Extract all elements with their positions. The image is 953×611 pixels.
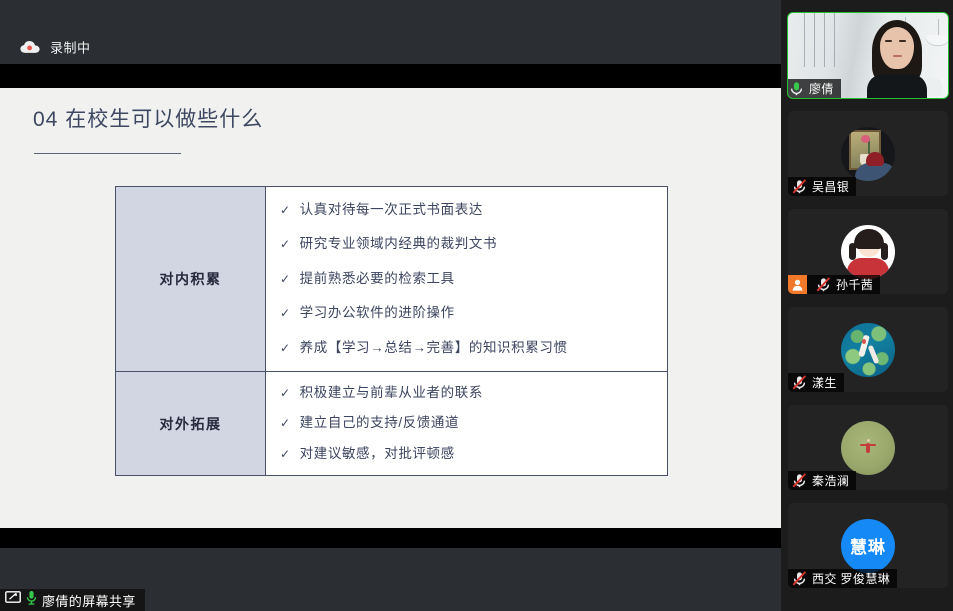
- avatar: [841, 421, 895, 475]
- check-icon: ✓: [280, 416, 291, 430]
- list-item-text: 对建议敏感，对批评顿感: [300, 446, 455, 462]
- microphone-muted-icon: [791, 374, 808, 391]
- recording-label: 录制中: [50, 38, 91, 57]
- content-table: 对内积累 ✓ 认真对待每一次正式书面表达 ✓ 研究专业领域内经典的裁判文书 ✓ …: [115, 186, 668, 476]
- participant-name: 西交 罗俊慧琳: [812, 570, 890, 587]
- shared-screen-stage[interactable]: 录制中 04 在校生可以做些什么 对内积累 ✓ 认真对待每一次正式书面表达 ✓ …: [0, 0, 781, 611]
- slide-title: 04 在校生可以做些什么: [33, 103, 263, 133]
- meeting-window: 录制中 04 在校生可以做些什么 对内积累 ✓ 认真对待每一次正式书面表达 ✓ …: [0, 0, 953, 611]
- slide-title-underline: [34, 153, 181, 154]
- table-row: 对外拓展 ✓ 积极建立与前辈从业者的联系 ✓ 建立自己的支持/反馈通道 ✓ 对建…: [116, 372, 667, 475]
- list-item: ✓ 认真对待每一次正式书面表达: [280, 202, 667, 218]
- list-item-text: 认真对待每一次正式书面表达: [300, 202, 483, 218]
- participant-name: 秦浩澜: [812, 472, 849, 489]
- list-item-text: 学习办公软件的进阶操作: [300, 305, 455, 321]
- list-item: ✓ 研究专业领域内经典的裁判文书: [280, 236, 667, 252]
- list-item-text: 建立自己的支持/反馈通道: [300, 415, 459, 431]
- check-icon: ✓: [280, 306, 291, 320]
- list-item: ✓ 学习办公软件的进阶操作: [280, 305, 667, 321]
- avatar: 慧琳: [841, 519, 895, 573]
- participant-nameplate: 西交 罗俊慧琳: [788, 569, 897, 588]
- table-row-items: ✓ 积极建立与前辈从业者的联系 ✓ 建立自己的支持/反馈通道 ✓ 对建议敏感，对…: [266, 372, 667, 475]
- table-row: 对内积累 ✓ 认真对待每一次正式书面表达 ✓ 研究专业领域内经典的裁判文书 ✓ …: [116, 187, 667, 372]
- list-item-text: 积极建立与前辈从业者的联系: [300, 385, 483, 401]
- participant-face: [865, 18, 929, 98]
- letterbox-top: [0, 64, 781, 88]
- table-row-category: 对外拓展: [116, 372, 266, 475]
- participant-name: 孙千茜: [836, 276, 873, 293]
- letterbox-bottom: [0, 528, 781, 548]
- participant-nameplate: 廖倩: [788, 79, 841, 98]
- screen-share-label: 廖倩的屏幕共享: [42, 591, 136, 610]
- screen-share-icon: [5, 591, 21, 609]
- microphone-muted-icon: [791, 472, 808, 489]
- participant-name: 吴昌银: [812, 178, 849, 195]
- screen-share-status: 廖倩的屏幕共享: [0, 589, 145, 611]
- participant-filmstrip[interactable]: 廖倩: [781, 0, 953, 611]
- list-item: ✓ 对建议敏感，对批评顿感: [280, 446, 667, 462]
- list-item-text: 提前熟悉必要的检索工具: [300, 271, 455, 287]
- table-row-category: 对内积累: [116, 187, 266, 371]
- microphone-unmuted-icon: [788, 80, 805, 97]
- table-row-items: ✓ 认真对待每一次正式书面表达 ✓ 研究专业领域内经典的裁判文书 ✓ 提前熟悉必…: [266, 187, 667, 371]
- list-item-text: 养成【学习→总结→完善】的知识积累习惯: [300, 340, 568, 356]
- microphone-muted-icon: [791, 178, 808, 195]
- list-item-text: 研究专业领域内经典的裁判文书: [300, 236, 497, 252]
- list-item: ✓ 养成【学习→总结→完善】的知识积累习惯: [280, 340, 667, 356]
- participant-tile-wuchangyin[interactable]: 吴昌银: [788, 111, 948, 196]
- check-icon: ✓: [280, 237, 291, 251]
- participant-nameplate: 漾生: [788, 373, 844, 392]
- avatar: [841, 323, 895, 377]
- check-icon: ✓: [280, 386, 291, 400]
- recording-bar: 录制中: [0, 0, 781, 64]
- participant-nameplate: 秦浩澜: [788, 471, 856, 490]
- participant-tile-yangsheng[interactable]: 漾生: [788, 307, 948, 392]
- check-icon: ✓: [280, 203, 291, 217]
- check-icon: ✓: [280, 447, 291, 461]
- cloud-recording-icon: [20, 41, 41, 54]
- microphone-muted-icon: [791, 570, 808, 587]
- avatar: [841, 225, 895, 279]
- avatar: [841, 127, 895, 181]
- microphone-unmuted-icon: [26, 590, 37, 610]
- list-item: ✓ 建立自己的支持/反馈通道: [280, 415, 667, 431]
- participant-nameplate: 孙千茜: [788, 275, 880, 294]
- check-icon: ✓: [280, 272, 291, 286]
- participant-tile-sunqianqian[interactable]: 孙千茜: [788, 209, 948, 294]
- recording-indicator: 录制中: [20, 38, 91, 57]
- participant-tile-liaoqian[interactable]: 廖倩: [788, 13, 948, 98]
- participant-tile-luojunhuilin[interactable]: 慧琳 西交 罗俊慧琳: [788, 503, 948, 588]
- host-person-icon: [788, 275, 807, 294]
- microphone-muted-icon: [815, 276, 832, 293]
- participant-name: 廖倩: [809, 80, 834, 97]
- participant-tile-qinhaolan[interactable]: 秦浩澜: [788, 405, 948, 490]
- check-icon: ✓: [280, 341, 291, 355]
- participant-nameplate: 吴昌银: [788, 177, 856, 196]
- list-item: ✓ 积极建立与前辈从业者的联系: [280, 385, 667, 401]
- participant-name: 漾生: [812, 374, 837, 391]
- list-item: ✓ 提前熟悉必要的检索工具: [280, 271, 667, 287]
